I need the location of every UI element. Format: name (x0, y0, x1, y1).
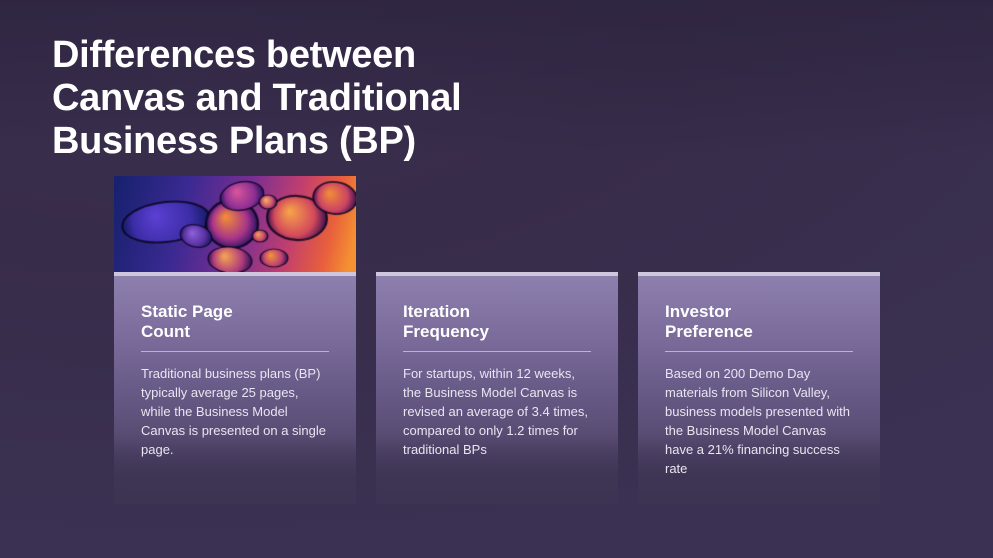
slide-canvas: Differences between Canvas and Tradition… (0, 0, 993, 558)
card-heading: Investor Preference (665, 302, 855, 342)
card-investor-preference[interactable]: Investor Preference Based on 200 Demo Da… (638, 176, 880, 504)
card-body: Static Page Count Traditional business p… (114, 276, 356, 504)
cards-row: Static Page Count Traditional business p… (114, 176, 879, 504)
page-title: Differences between Canvas and Tradition… (52, 34, 692, 163)
card-text: For startups, within 12 weeks, the Busin… (403, 364, 593, 459)
card-image-abstract-oil-cells-blue-coral (638, 176, 880, 272)
card-static-page-count[interactable]: Static Page Count Traditional business p… (114, 176, 356, 504)
card-divider (665, 351, 853, 352)
card-image-abstract-oil-bubbles-amber-purple (376, 176, 618, 272)
card-heading: Iteration Frequency (403, 302, 593, 342)
card-text: Traditional business plans (BP) typicall… (141, 364, 331, 459)
card-iteration-frequency[interactable]: Iteration Frequency For startups, within… (376, 176, 618, 504)
card-image-abstract-oil-bubbles-blue-orange (114, 176, 356, 272)
card-divider (141, 351, 329, 352)
card-body: Investor Preference Based on 200 Demo Da… (638, 276, 880, 504)
card-divider (403, 351, 591, 352)
card-text: Based on 200 Demo Day materials from Sil… (665, 364, 855, 478)
card-body: Iteration Frequency For startups, within… (376, 276, 618, 504)
card-heading: Static Page Count (141, 302, 331, 342)
